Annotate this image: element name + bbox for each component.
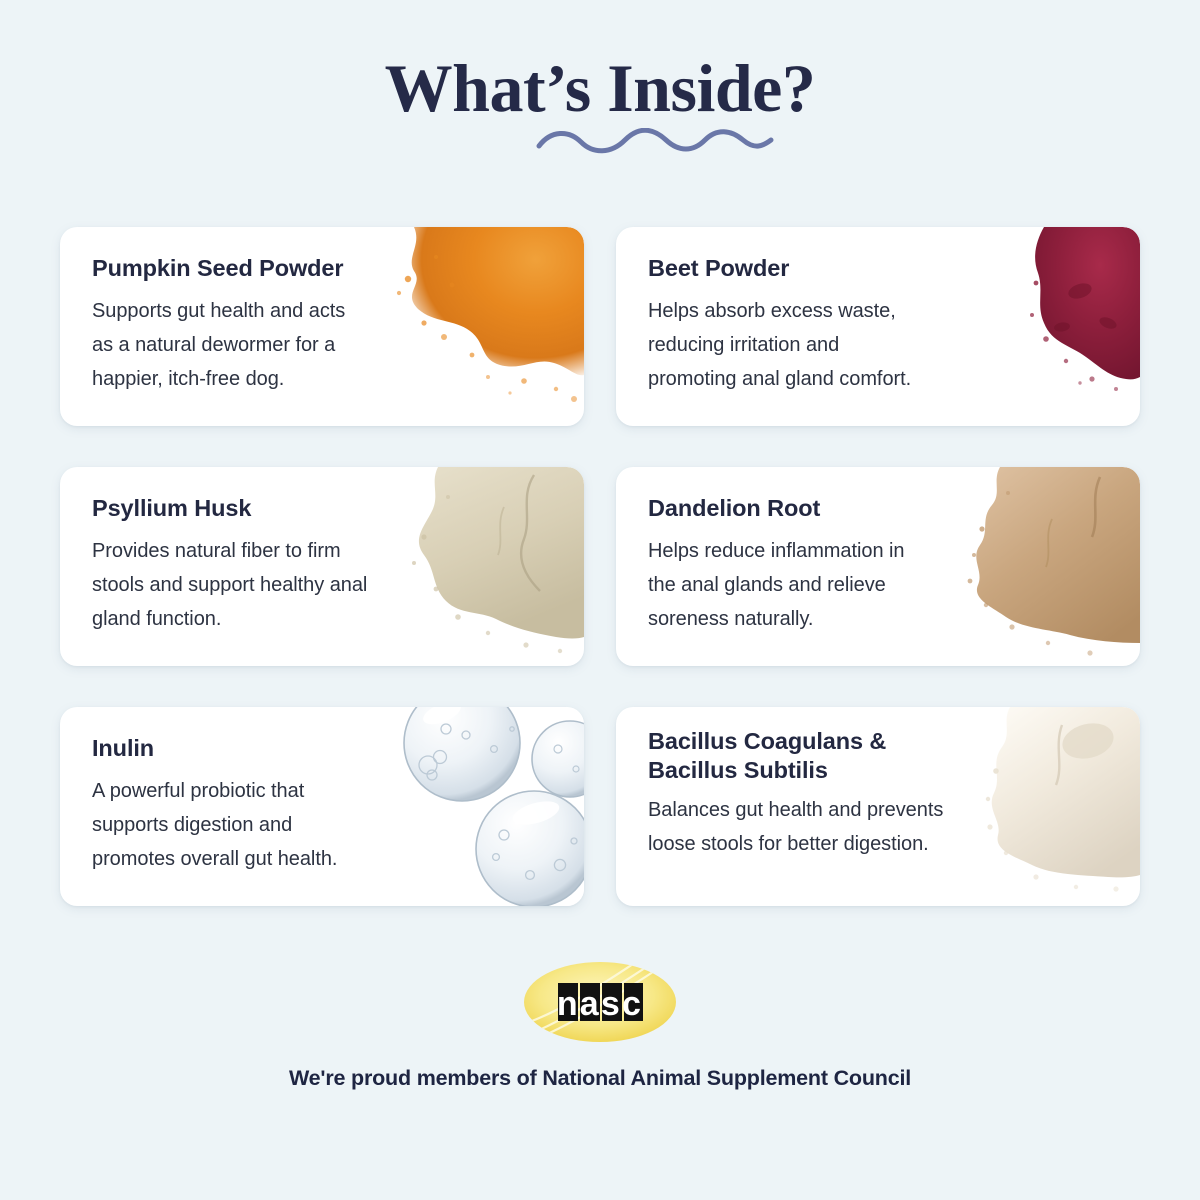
card-title: Pumpkin Seed Powder [92,254,420,283]
ingredient-card[interactable]: Dandelion Root Helps reduce inflammation… [616,467,1140,666]
ingredient-card[interactable]: Bacillus Coagulans & Bacillus Subtilis B… [616,707,1140,906]
card-text: Psyllium Husk Provides natural fiber to … [60,467,420,636]
card-description: Provides natural fiber to firm stools an… [92,534,420,636]
card-text: Dandelion Root Helps reduce inflammation… [616,467,976,636]
ingredient-card[interactable]: Inulin A powerful probiotic that support… [60,707,584,906]
card-title: Dandelion Root [648,494,976,523]
card-description: Balances gut health and prevents loose s… [648,793,976,861]
card-title: Inulin [92,734,420,763]
card-text: Beet Powder Helps absorb excess waste, r… [616,227,976,396]
card-description: A powerful probiotic that supports diges… [92,774,420,876]
card-description: Helps absorb excess waste, reducing irri… [648,294,976,396]
card-description: Helps reduce inflammation in the anal gl… [648,534,976,636]
wavy-underline-icon [0,128,1200,154]
card-text: Bacillus Coagulans & Bacillus Subtilis B… [616,707,976,861]
card-description: Supports gut health and acts as a natura… [92,294,420,396]
ingredient-grid: Pumpkin Seed Powder Supports gut health … [60,227,1140,906]
ingredient-card[interactable]: Pumpkin Seed Powder Supports gut health … [60,227,584,426]
card-title: Beet Powder [648,254,976,283]
ingredient-card[interactable]: Beet Powder Helps absorb excess waste, r… [616,227,1140,426]
footer-note: We're proud members of National Animal S… [0,1066,1200,1091]
page-header: What’s Inside? [0,0,1200,122]
nasc-logo: nasc [524,962,676,1042]
page-title: What’s Inside? [0,54,1200,122]
card-text: Pumpkin Seed Powder Supports gut health … [60,227,420,396]
card-title: Bacillus Coagulans & Bacillus Subtilis [648,727,976,784]
ingredient-card[interactable]: Psyllium Husk Provides natural fiber to … [60,467,584,666]
card-text: Inulin A powerful probiotic that support… [60,707,420,876]
page-footer: nasc We're proud members of National Ani… [0,962,1200,1091]
card-title: Psyllium Husk [92,494,420,523]
nasc-wordmark: nasc [557,985,643,1023]
